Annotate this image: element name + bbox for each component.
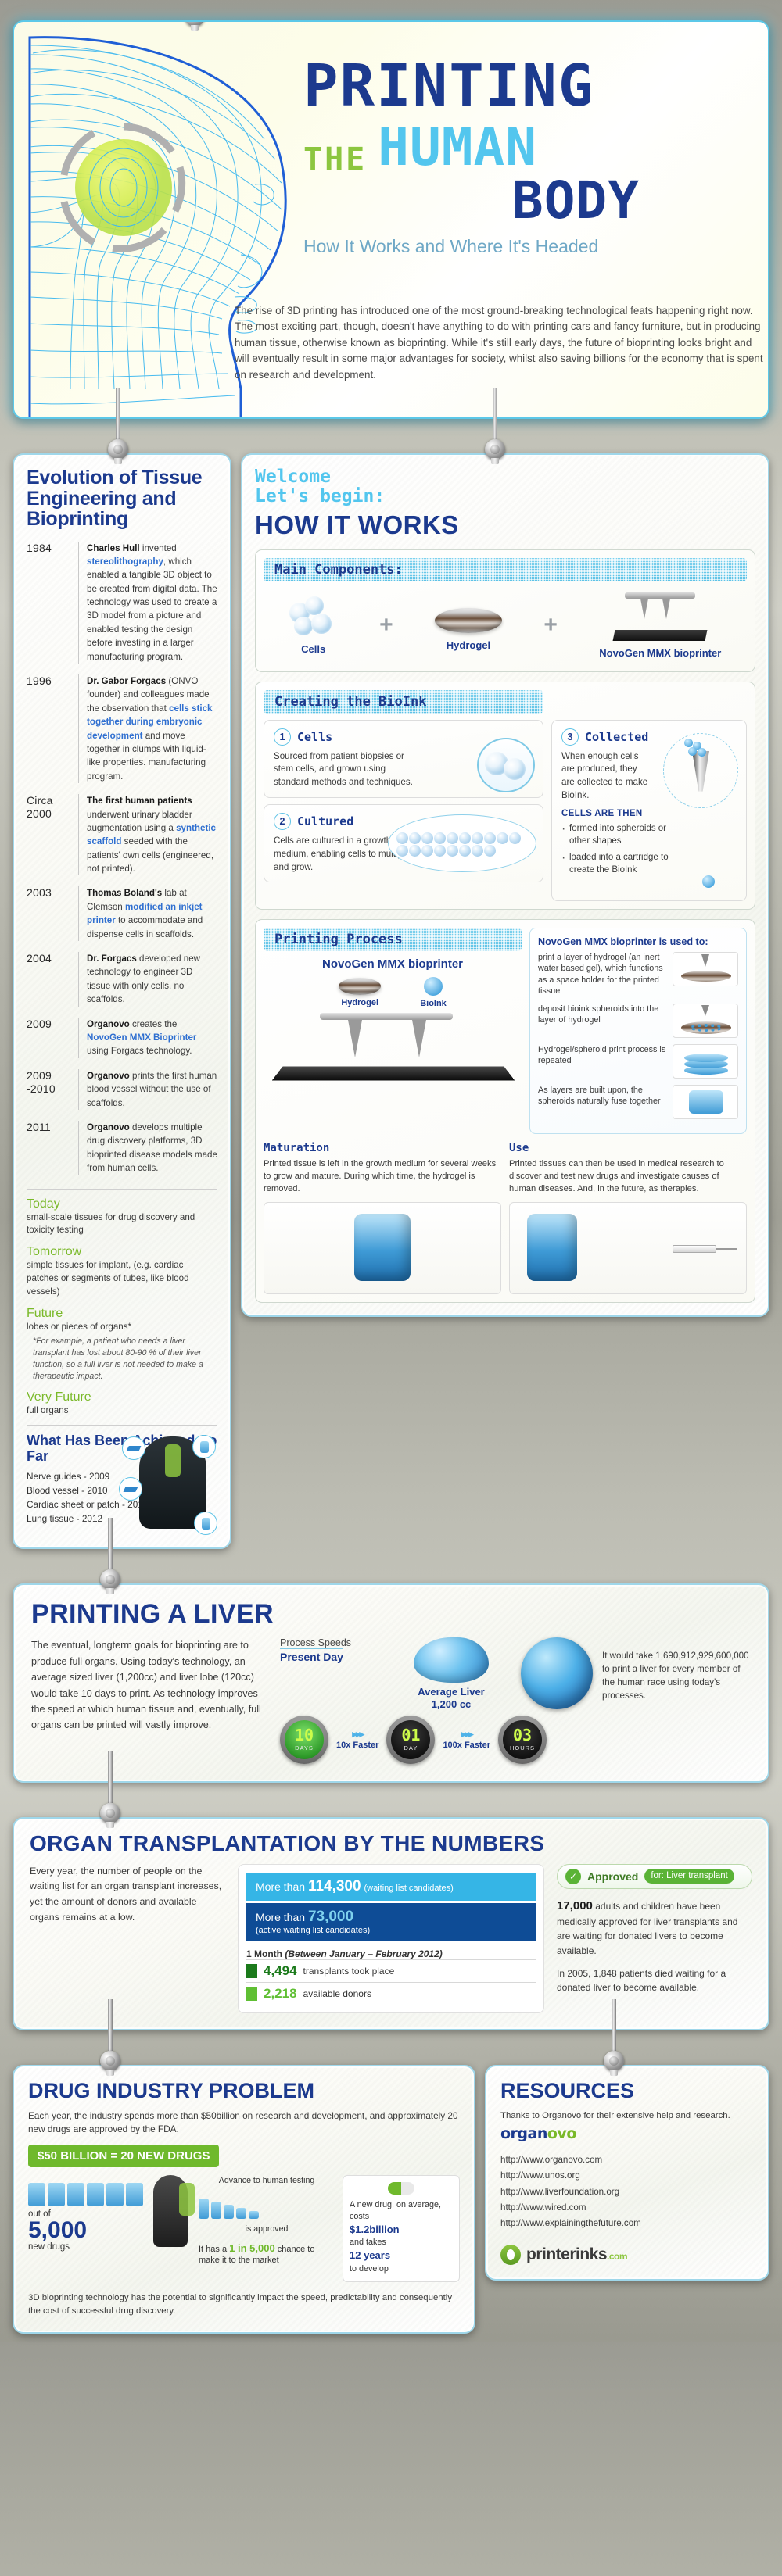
resources-links: http://www.organovo.comhttp://www.unos.o… [500, 2152, 754, 2231]
bioink-header: Creating the BioInk [264, 690, 543, 714]
month-stat-row: 4,494transplants took place [246, 1959, 536, 1982]
component-printer: NovoGen MMX bioprinter [599, 592, 721, 659]
collected-bullet-1: formed into spheroids or other shapes [561, 822, 671, 847]
maturation-text: Printed tissue is left in the growth med… [264, 1158, 501, 1196]
waiting-active-value: 73,000 [308, 1909, 353, 1925]
component-cells: Cells [289, 596, 338, 655]
present-day-label: Present Day [280, 1648, 343, 1663]
gauge-3-hours: 03 HOURS [498, 1716, 547, 1764]
approved-block: ✓ Approved for: Liver transplant 17,000 … [557, 1864, 752, 2013]
future-item: Tomorrowsimple tissues for implant, (e.g… [27, 1245, 217, 1298]
new-drug-cost-block: A new drug, on average, costs $1.2billio… [343, 2175, 460, 2282]
bolt-drug [100, 2046, 120, 2070]
printing-process-header: Printing Process [264, 928, 522, 951]
step-title-2: Cultured [297, 814, 353, 828]
timeline-year: 1984 [27, 542, 70, 664]
average-liver-value: 1,200 cc [432, 1698, 472, 1710]
check-icon: ✓ [565, 1869, 581, 1884]
hero-title-block: PRINTING THE HUMAN BODY How It Works and… [303, 59, 769, 257]
novogen-step: Hydrogel/spheroid print process is repea… [538, 1044, 738, 1079]
gauge-value-1: 01 [401, 1727, 420, 1743]
drug-5000-block: out of 5,000 new drugs [28, 2175, 145, 2252]
stat-value: 4,494 [264, 1963, 297, 1979]
gauge-unit-2: HOURS [510, 1744, 535, 1751]
novogen-step-thumb [673, 1004, 738, 1038]
collected-bullet-2: loaded into a cartridge to create the Bi… [561, 851, 679, 876]
hero-title-human: HUMAN [378, 117, 537, 177]
novogen-step-text: deposit bioink spheroids into the layer … [538, 1004, 666, 1026]
future-text: lobes or pieces of organs* [27, 1321, 217, 1334]
future-note: *For example, a patient who needs a live… [27, 1336, 217, 1382]
timeline-row: 1984Charles Hull invented stereolithogra… [27, 536, 217, 670]
hero-panel: PRINTING THE HUMAN BODY How It Works and… [13, 20, 769, 419]
timeline-year: Circa 2000 [27, 794, 70, 875]
newdrug-years: 12 years [350, 2249, 390, 2261]
timeline-panel: Evolution of Tissue Engineering and Biop… [13, 453, 231, 1549]
timeline-text: Dr. Gabor Forgacs (ONVO founder) and col… [78, 674, 217, 783]
drug-big-number: 5,000 [28, 2219, 145, 2242]
component-label-hydrogel: Hydrogel [435, 639, 502, 651]
printer-part-label-bioink: BioInk [420, 999, 447, 1008]
timeline-year: 2009 [27, 1018, 70, 1058]
resources-title: RESOURCES [500, 2079, 754, 2103]
printerinks-logo[interactable]: printerinks.com [500, 2245, 754, 2265]
gauge-value-0: 10 [295, 1727, 314, 1743]
novogen-step-thumb [673, 952, 738, 986]
timeline-list: 1984Charles Hull invented stereolithogra… [27, 536, 217, 1181]
maturation-image [264, 1202, 501, 1294]
bioprinter-diagram [264, 1013, 522, 1088]
printing-liver-panel: PRINTING A LIVER The eventual, longterm … [13, 1583, 769, 1782]
collected-text: When enough cells are produced, they are… [561, 750, 649, 803]
timeline-text: Organovo prints the first human blood ve… [78, 1069, 217, 1110]
plus-sign-2: + [543, 612, 558, 639]
multiplier-100x: ▸▸▸ 100x Faster [443, 1729, 490, 1751]
gauge-10-days: 10 DAYS [280, 1716, 328, 1764]
future-item: Todaysmall-scale tissues for drug discov… [27, 1197, 217, 1238]
future-list: Todaysmall-scale tissues for drug discov… [27, 1197, 217, 1418]
two-cells-icon [477, 738, 535, 792]
approved-paragraph-2: In 2005, 1,848 patients died waiting for… [557, 1966, 752, 1995]
step-title-1: Cells [297, 730, 332, 744]
welcome-line-1: Welcome [255, 467, 755, 487]
hero-subtitle: How It Works and Where It's Headed [303, 236, 769, 257]
stat-swatch [246, 1964, 257, 1978]
bolt-hiw [485, 435, 505, 458]
timeline-year: 2011 [27, 1121, 70, 1175]
drug-industry-panel: DRUG INDUSTRY PROBLEM Each year, the ind… [13, 2065, 475, 2334]
stat-text: available donors [303, 1988, 371, 1999]
printerinks-name: printerinks [526, 2245, 607, 2263]
timeline-row: 2003Thomas Boland's lab at Clemson modif… [27, 881, 217, 946]
component-label-cells: Cells [289, 643, 338, 655]
waiting-total-suffix: (waiting list candidates) [364, 1884, 453, 1893]
approved-number: 17,000 [557, 1899, 593, 1912]
future-item: Very Futurefull organs [27, 1390, 217, 1418]
timeline-row: 1996Dr. Gabor Forgacs (ONVO founder) and… [27, 669, 217, 789]
printerinks-domain: .com [607, 2251, 627, 2262]
liver-illustration [414, 1637, 489, 1683]
bioink-step-2: 2 Cultured Cells are cultured in a growt… [264, 804, 543, 882]
machine-label: NovoGen MMX bioprinter [264, 957, 522, 971]
drug-title: DRUG INDUSTRY PROBLEM [28, 2079, 460, 2103]
newdrug-dev: to develop [350, 2263, 453, 2275]
month-rows: 4,494transplants took place2,218availabl… [246, 1959, 536, 2005]
main-columns: Evolution of Tissue Engineering and Biop… [13, 453, 769, 1549]
resource-link[interactable]: http://www.wired.com [500, 2200, 754, 2216]
bioprinter-icon [614, 592, 706, 641]
vial-icon-2 [194, 1512, 217, 1535]
vials-row [28, 2175, 145, 2206]
bolt-liver [100, 1565, 120, 1588]
timeline-row: 2009Organovo creates the NovoGen MMX Bio… [27, 1012, 217, 1064]
drug-banner: $50 BILLION = 20 NEW DRUGS [28, 2145, 219, 2167]
syringe-icon [673, 1243, 738, 1254]
timeline-title: Evolution of Tissue Engineering and Biop… [27, 467, 217, 530]
timeline-text: Thomas Boland's lab at Clemson modified … [78, 886, 217, 941]
waiting-active-suffix: (active waiting list candidates) [256, 1926, 526, 1935]
maturation-title: Maturation [264, 1142, 501, 1154]
use-title: Use [509, 1142, 747, 1154]
printer-part-hydrogel: Hydrogel [339, 978, 381, 1007]
organ-title: ORGAN TRANSPLANTATION BY THE NUMBERS [30, 1831, 752, 1856]
bioink-step-1: 1 Cells Sourced from patient biopsies or… [264, 720, 543, 798]
main-components-header: Main Components: [264, 558, 747, 581]
printerinks-mark-icon [500, 2245, 521, 2265]
gauge-unit-1: DAY [404, 1744, 418, 1751]
hero-title-the: THE [303, 141, 367, 177]
timeline-text: Organovo develops multiple drug discover… [78, 1121, 217, 1175]
chance-value: 1 in 5,000 [229, 2242, 275, 2254]
use-text: Printed tissues can then be used in medi… [509, 1158, 747, 1196]
bolt-organ [100, 1798, 120, 1822]
globe-illustration [521, 1637, 593, 1709]
timeline-text: Organovo creates the NovoGen MMX Bioprin… [78, 1018, 217, 1058]
process-speeds-label: Process Speeds [280, 1637, 382, 1648]
novogen-uses-block: NovoGen MMX bioprinter is used to: print… [529, 928, 747, 1134]
step-number-2: 2 [274, 813, 291, 830]
bioink-step-3-collected: 3 Collected When enough cells are produc… [551, 720, 747, 901]
step-number-1: 1 [274, 728, 291, 746]
average-liver-label: Average Liver [418, 1686, 485, 1698]
timeline-row: 2009 -2010Organovo prints the first huma… [27, 1064, 217, 1115]
bolt-timeline [108, 435, 128, 458]
resource-link[interactable]: http://www.unos.org [500, 2168, 754, 2184]
liver-title: PRINTING A LIVER [31, 1599, 751, 1630]
novogen-step-thumb [673, 1044, 738, 1079]
how-it-works-heading: HOW IT WORKS [255, 510, 755, 540]
pill-icon [388, 2182, 414, 2195]
component-hydrogel: Hydrogel [435, 600, 502, 651]
future-label: Very Future [27, 1390, 217, 1404]
waiting-list-stats: More than 114,300 (waiting list candidat… [238, 1864, 544, 2013]
drug-funnel: Advance to human testing is approved It … [199, 2175, 335, 2267]
maturation-block: Maturation Printed tissue is left in the… [264, 1142, 501, 1294]
newdrug-and: and takes [350, 2237, 453, 2249]
advance-label: Advance to human testing [199, 2175, 335, 2186]
organovo-logo: organovo [500, 2125, 576, 2142]
novogen-step: print a layer of hydrogel (an inert wate… [538, 952, 738, 997]
printer-part-bioink: BioInk [420, 977, 447, 1008]
bolt-resources [604, 2046, 624, 2070]
organ-transplantation-panel: ORGAN TRANSPLANTATION BY THE NUMBERS Eve… [13, 1817, 769, 2030]
novogen-header: NovoGen MMX bioprinter is used to: [538, 936, 738, 947]
component-label-printer: NovoGen MMX bioprinter [599, 647, 721, 659]
approved-paragraph: 17,000 adults and children have been med… [557, 1897, 752, 1959]
timeline-text: The first human patients underwent urina… [78, 794, 217, 875]
bolt-hero-left [185, 20, 205, 25]
step-number-3: 3 [561, 728, 579, 746]
gauge-unit-0: DAYS [295, 1744, 314, 1751]
timeline-text: Dr. Forgacs developed new technology to … [78, 952, 217, 1007]
approved-for-label: for: Liver transplant [644, 1869, 734, 1884]
new-drugs-label: new drugs [28, 2242, 145, 2252]
step-text-1: Sourced from patient biopsies or stem ce… [274, 750, 414, 789]
bottom-row: DRUG INDUSTRY PROBLEM Each year, the ind… [13, 2065, 769, 2334]
gauge-1-day: 01 DAY [386, 1716, 435, 1764]
cultured-dish-icon [388, 814, 536, 872]
stat-swatch [246, 1987, 257, 2001]
is-approved-label: is approved [199, 2224, 335, 2234]
future-item: Futurelobes or pieces of organs**For exa… [27, 1307, 217, 1383]
multiplier-10x: ▸▸▸ 10x Faster [336, 1729, 378, 1751]
stat-text: transplants took place [303, 1966, 395, 1977]
printer-part-label-hydrogel: Hydrogel [339, 998, 381, 1007]
printing-process-block: Printing Process NovoGen MMX bioprinter … [255, 919, 755, 1303]
cells-are-then-label: CELLS ARE THEN [561, 809, 737, 818]
newdrug-title: A new drug, on average, costs [350, 2199, 453, 2223]
novogen-step: deposit bioink spheroids into the layer … [538, 1004, 738, 1038]
resource-link[interactable]: http://www.liverfoundation.org [500, 2184, 754, 2200]
novogen-steps-list: print a layer of hydrogel (an inert wate… [538, 952, 738, 1119]
human-body-figure [136, 1436, 211, 1530]
main-components-block: Main Components: Cells [255, 549, 755, 672]
hero-title-body: BODY [303, 177, 640, 225]
timeline-year: 2004 [27, 952, 70, 1007]
use-block: Use Printed tissues can then be used in … [509, 1142, 747, 1294]
hero-paragraph: The rise of 3D printing has introduced o… [235, 303, 768, 383]
waiting-list-bar-active: More than 73,000 (active waiting list ca… [246, 1903, 536, 1941]
novogen-step-text: print a layer of hydrogel (an inert wate… [538, 952, 666, 997]
timeline-year: 2003 [27, 886, 70, 941]
waiting-list-bar-total: More than 114,300 (waiting list candidat… [246, 1873, 536, 1901]
funnel-vials [199, 2191, 335, 2219]
cartridge-icon [663, 733, 738, 808]
chance-text: It has a 1 in 5,000 chance to make it to… [199, 2241, 335, 2267]
globe-note: It would take 1,690,912,929,600,000 to p… [602, 1650, 751, 1702]
month-range: (Between January – February 2012) [285, 1948, 442, 1959]
novogen-step: As layers are built upon, the spheroids … [538, 1085, 738, 1119]
welcome-line-2: Let's begin: [255, 487, 755, 506]
future-label: Today [27, 1197, 217, 1211]
infographic-page: PRINTING THE HUMAN BODY How It Works and… [0, 20, 782, 2342]
future-label: Tomorrow [27, 1245, 217, 1259]
month-label-row: 1 Month (Between January – February 2012… [246, 1948, 536, 1959]
timeline-row: 2011Organovo develops multiple drug disc… [27, 1115, 217, 1181]
bioink-bead-icon [702, 875, 715, 888]
drug-footer: 3D bioprinting technology has the potent… [28, 2292, 460, 2318]
timeline-year: 2009 -2010 [27, 1069, 70, 1110]
novogen-step-text: As layers are built upon, the spheroids … [538, 1085, 666, 1107]
resources-panel: RESOURCES Thanks to Organovo for their e… [485, 2065, 769, 2281]
waiting-total-value: 114,300 [308, 1878, 361, 1894]
future-text: small-scale tissues for drug discovery a… [27, 1211, 217, 1238]
month-label: 1 Month [246, 1948, 282, 1959]
future-text: full organs [27, 1404, 217, 1418]
novogen-step-thumb [673, 1085, 738, 1119]
organ-paragraph: Every year, the number of people on the … [30, 1864, 225, 2013]
step-title-3: Collected [585, 730, 648, 744]
resource-link[interactable]: http://www.explainingthefuture.com [500, 2216, 754, 2231]
resource-link[interactable]: http://www.organovo.com [500, 2152, 754, 2168]
newdrug-cost: $1.2billion [350, 2224, 400, 2235]
liver-paragraph: The eventual, longterm goals for bioprin… [31, 1637, 266, 1763]
plus-sign-1: + [379, 612, 393, 639]
gauge-value-2: 03 [513, 1727, 532, 1743]
timeline-text: Charles Hull invented stereolithography,… [78, 542, 217, 664]
stat-value: 2,218 [264, 1986, 297, 2002]
approved-badge: Approved [587, 1870, 638, 1883]
how-it-works-panel: Welcome Let's begin: HOW IT WORKS Main C… [241, 453, 769, 1317]
hero-title-printing: PRINTING [303, 59, 769, 113]
drug-paragraph: Each year, the industry spends more than… [28, 2109, 460, 2137]
month-stat-row: 2,218available donors [246, 1982, 536, 2005]
cells-icon [289, 596, 338, 637]
petri-dish-icon [435, 608, 502, 633]
future-text: simple tissues for implant, (e.g. cardia… [27, 1259, 217, 1298]
human-silhouette [153, 2175, 191, 2247]
timeline-row: 2004Dr. Forgacs developed new technology… [27, 946, 217, 1012]
timeline-row: Circa 2000The first human patients under… [27, 789, 217, 881]
resources-thanks: Thanks to Organovo for their extensive h… [500, 2109, 754, 2145]
bioink-block: Creating the BioInk 1 Cells Sourced from… [255, 682, 755, 910]
future-label: Future [27, 1307, 217, 1321]
timeline-year: 1996 [27, 674, 70, 783]
novogen-step-text: Hydrogel/spheroid print process is repea… [538, 1044, 666, 1067]
use-image [509, 1202, 747, 1294]
